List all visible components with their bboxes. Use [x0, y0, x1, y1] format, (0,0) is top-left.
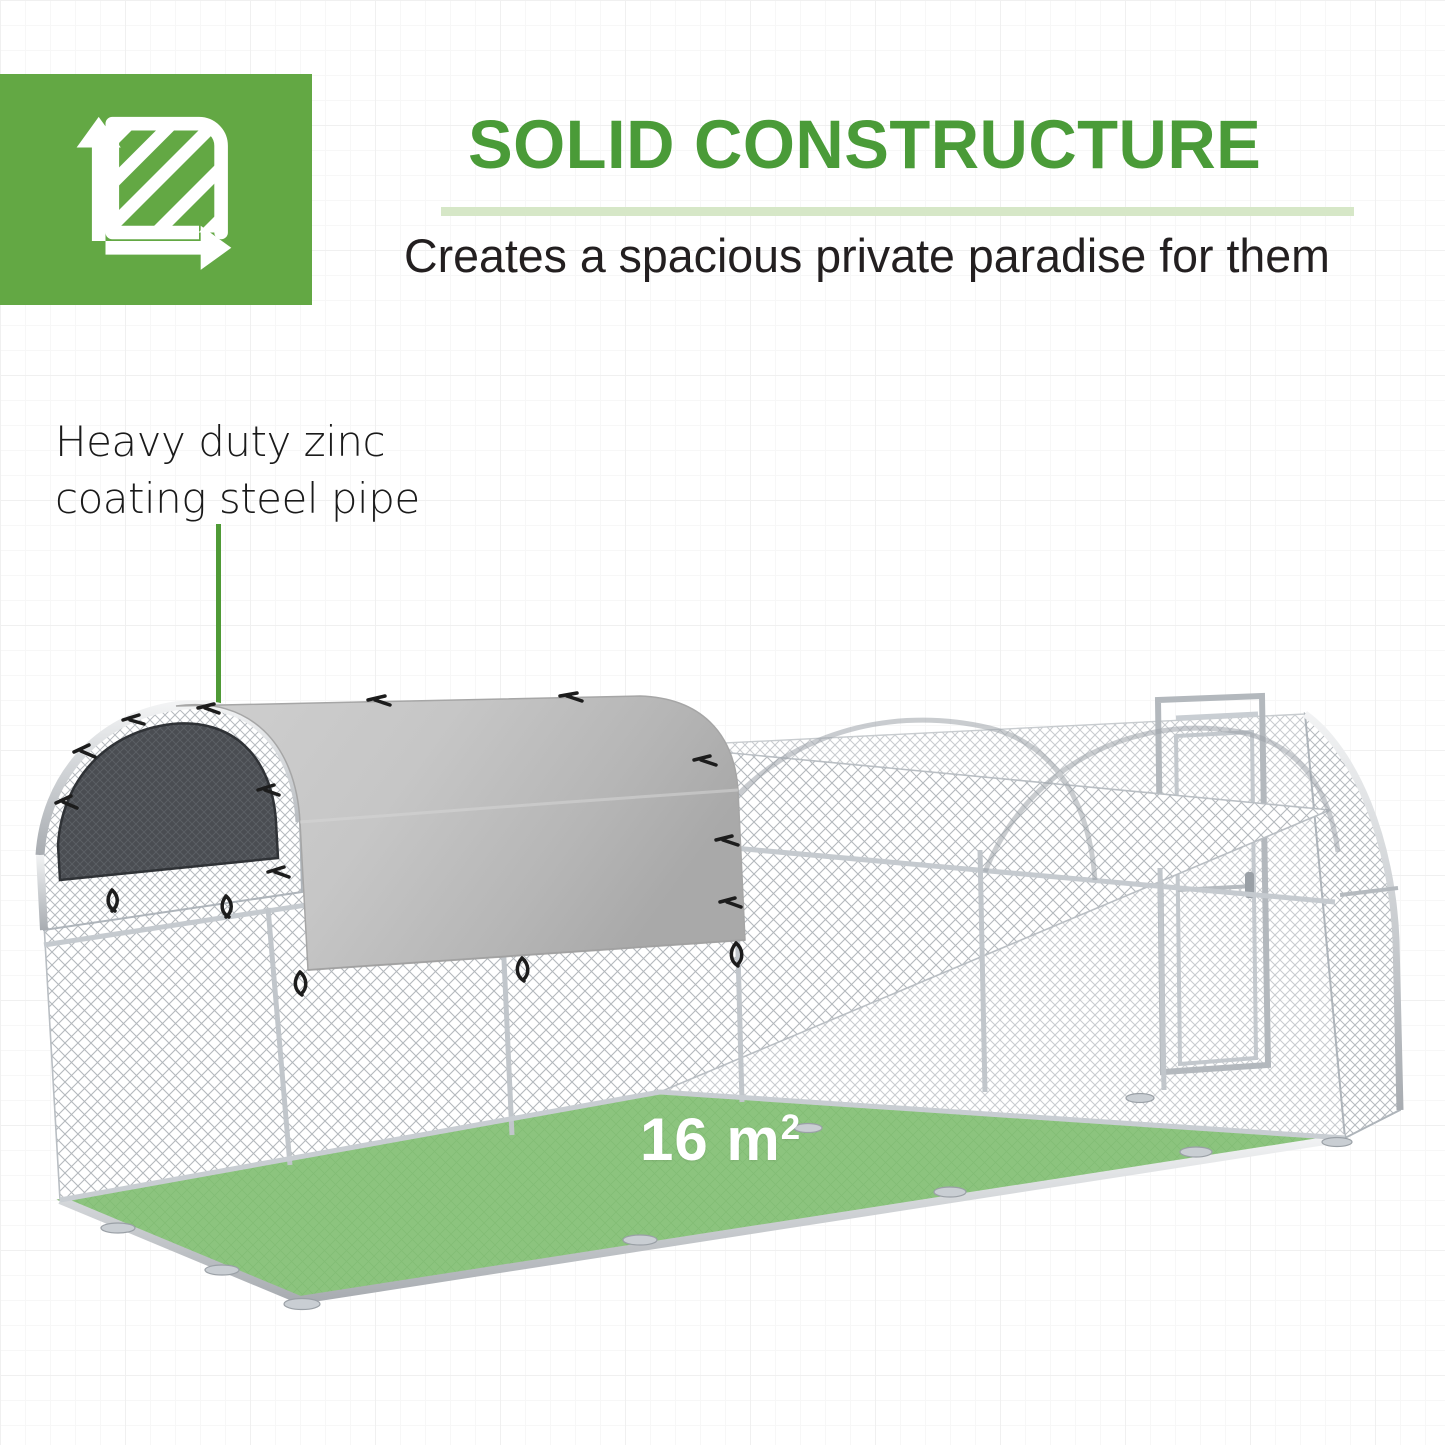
area-square-icon [0, 74, 312, 305]
callout-label: Heavy duty zinc coating steel pipe [55, 414, 485, 527]
callout-label-line1: Heavy duty zinc [55, 414, 485, 471]
page-subtitle: Creates a spacious private paradise for … [404, 228, 1394, 284]
page-title: SOLID CONSTRUCTURE [468, 110, 1341, 179]
title-divider [441, 207, 1354, 216]
callout-label-line2: coating steel pipe [55, 471, 485, 528]
product-illustration-chicken-coop [0, 640, 1445, 1340]
left-end-dome [40, 705, 302, 930]
